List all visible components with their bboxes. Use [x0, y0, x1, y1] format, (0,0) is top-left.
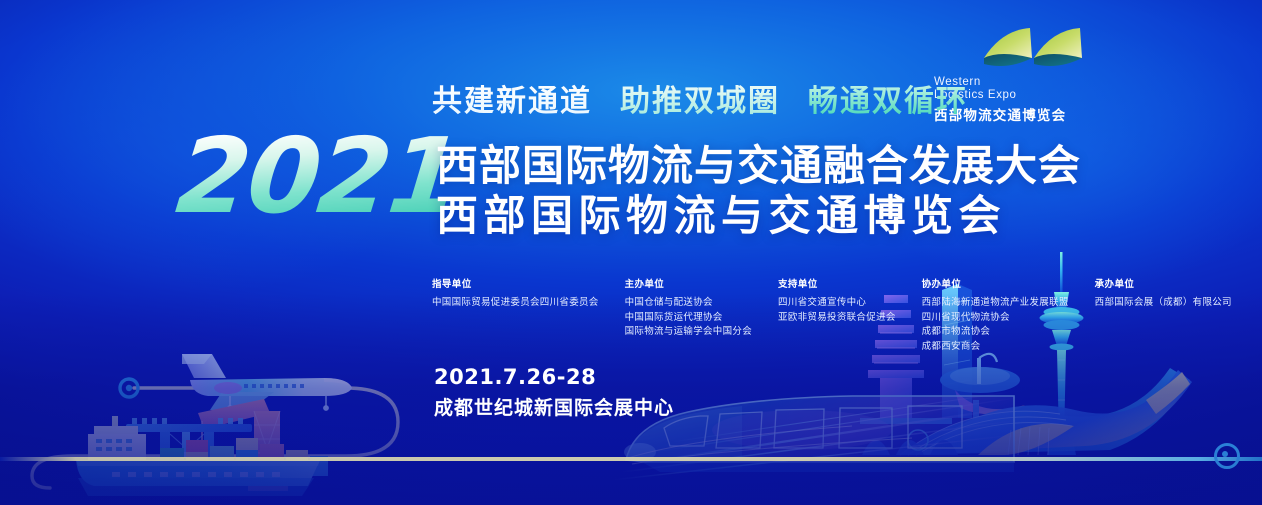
expo-banner: Western Logistics Expo 西部物流交通博览会 共建新通道 助… [0, 0, 1262, 505]
event-venue: 成都世纪城新国际会展中心 [434, 393, 674, 420]
slogan-part-3: 畅通双循环 [808, 76, 968, 120]
slogan-part-1: 共建新通道 [432, 76, 592, 120]
organizer-item: 成都市物流协会 [922, 325, 1069, 340]
organizer-column-coorganizer: 协办单位 西部陆海新通道物流产业发展联盟 四川省现代物流协会 成都市物流协会 成… [922, 276, 1069, 354]
organizer-item: 中国国际贸易促进委员会四川省委员会 [432, 296, 599, 311]
organizer-heading: 主办单位 [625, 276, 752, 290]
organizer-column-guidance: 指导单位 中国国际贸易促进委员会四川省委员会 [432, 276, 599, 311]
organizer-column-undertaker: 承办单位 西部国际会展（成都）有限公司 [1095, 276, 1232, 311]
organizer-heading: 承办单位 [1095, 276, 1232, 290]
slogan: 共建新通道 助推双城圈 畅通双循环 [432, 76, 968, 120]
organizer-column-host: 主办单位 中国仓储与配送协会 中国国际货运代理协会 国际物流与运输学会中国分会 [625, 276, 752, 340]
event-date: 2021.7.26-28 [434, 365, 596, 389]
organizer-item: 四川省交通宣传中心 [778, 296, 896, 311]
organizer-columns: 指导单位 中国国际贸易促进委员会四川省委员会 主办单位 中国仓储与配送协会 中国… [432, 276, 1232, 354]
organizer-item: 国际物流与运输学会中国分会 [625, 325, 752, 340]
organizer-item: 亚欧非贸易投资联合促进会 [778, 311, 896, 326]
double-wing-mark-icon [928, 24, 1088, 76]
organizer-column-support: 支持单位 四川省交通宣传中心 亚欧非贸易投资联合促进会 [778, 276, 896, 325]
organizer-item: 四川省现代物流协会 [922, 311, 1069, 326]
organizer-item: 成都西安商会 [922, 340, 1069, 355]
organizer-item: 西部陆海新通道物流产业发展联盟 [922, 296, 1069, 311]
organizer-item: 中国国际货运代理协会 [625, 311, 752, 326]
organizer-item: 中国仓储与配送协会 [625, 296, 752, 311]
year-2021: 2021 [173, 124, 465, 228]
organizer-heading: 支持单位 [778, 276, 896, 290]
slogan-part-2: 助推双城圈 [620, 76, 780, 120]
organizer-item: 西部国际会展（成都）有限公司 [1095, 296, 1232, 311]
main-title-line-2: 西部国际物流与交通博览会 [436, 182, 1006, 243]
organizer-heading: 指导单位 [432, 276, 599, 290]
organizer-heading: 协办单位 [922, 276, 1069, 290]
